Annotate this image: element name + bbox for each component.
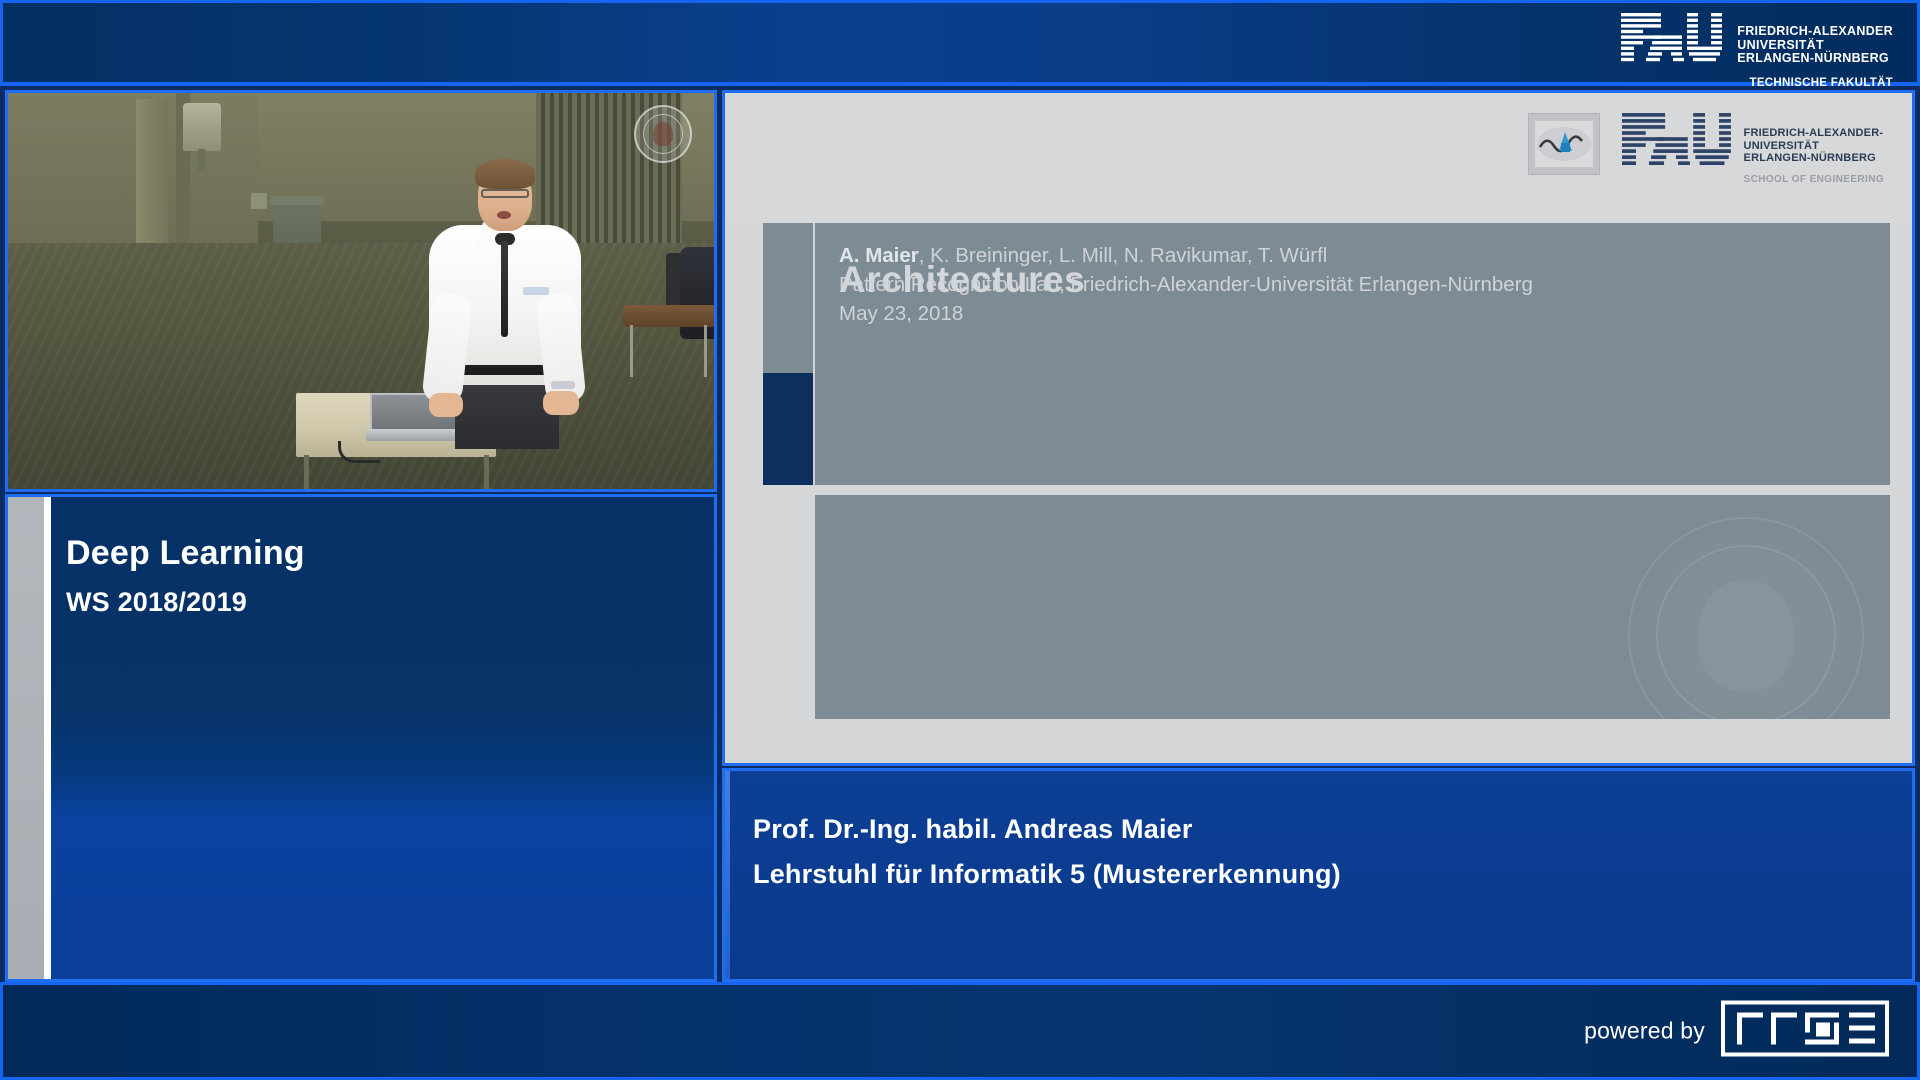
wall-pillar [136, 99, 168, 251]
slide-header: FRIEDRICH-ALEXANDER- UNIVERSITÄT ERLANGE… [725, 93, 1912, 223]
slide-author-lines: A. Maier, K. Breininger, L. Mill, N. Rav… [839, 241, 1533, 328]
presenter-glasses [481, 189, 529, 198]
slide-org-name: FRIEDRICH-ALEXANDER- UNIVERSITÄT ERLANGE… [1744, 113, 1884, 165]
faculty-label: TECHNISCHE FAKULTÄT [1737, 77, 1893, 89]
org-line-3: ERLANGEN-NÜRNBERG [1737, 52, 1893, 66]
wall-dispenser [183, 103, 221, 151]
lecture-video-panel[interactable] [5, 90, 717, 492]
org-line-2: UNIVERSITÄT [1737, 39, 1893, 53]
left-white-bar [44, 497, 51, 979]
presenter [423, 163, 583, 448]
powered-by-label: powered by [1584, 1018, 1705, 1045]
affiliation-line: Pattern Recognition Lab, Friedrich-Alexa… [839, 270, 1533, 299]
presenter-hand-right [543, 391, 579, 415]
slide-author-band [763, 373, 1890, 485]
university-seal-icon [634, 105, 692, 163]
slide-canvas: FRIEDRICH-ALEXANDER- UNIVERSITÄT ERLANGE… [725, 93, 1912, 763]
slide-org-line-2: UNIVERSITÄT [1744, 140, 1884, 153]
fau-logo-icon [1622, 113, 1732, 167]
university-seal-watermark-icon [1628, 517, 1864, 719]
lecture-recording-page: FRIEDRICH-ALEXANDER UNIVERSITÄT ERLANGEN… [0, 0, 1920, 1080]
course-title: Deep Learning [66, 531, 698, 575]
course-term: WS 2018/2019 [66, 587, 698, 618]
presenter-hair [475, 159, 535, 189]
co-authors: , K. Breininger, L. Mill, N. Ravikumar, … [919, 244, 1328, 267]
slide-content-panel [815, 495, 1890, 719]
presenter-watch [551, 381, 575, 389]
presenter-hand-left [429, 393, 463, 417]
shirt-pocket [523, 287, 549, 295]
power-cable [338, 441, 380, 463]
presentation-slide-panel[interactable]: FRIEDRICH-ALEXANDER- UNIVERSITÄT ERLANGE… [722, 90, 1915, 766]
school-label: SCHOOL OF ENGINEERING [1744, 174, 1884, 185]
slide-body: Architectures A. Maier, K. Breininger, L… [763, 223, 1890, 719]
prl-logo-inner [1535, 121, 1593, 167]
org-line-1: FRIEDRICH-ALEXANDER [1737, 25, 1893, 39]
course-title-panel: Deep Learning WS 2018/2019 [5, 494, 717, 982]
prl-waveform-icon [1535, 121, 1593, 167]
first-author: A. Maier [839, 244, 919, 267]
course-text-group: Deep Learning WS 2018/2019 [66, 531, 698, 618]
authors-line: A. Maier, K. Breininger, L. Mill, N. Rav… [839, 241, 1533, 270]
slide-org-line-1: FRIEDRICH-ALEXANDER- [1744, 127, 1884, 140]
slide-author-accent-block [763, 373, 815, 485]
slide-title-left-column [763, 223, 815, 373]
presenter-mouth [497, 211, 511, 219]
pattern-recognition-lab-logo-icon [1528, 113, 1600, 175]
rrze-logo-icon[interactable] [1721, 1001, 1889, 1062]
speaker-info-panel: Prof. Dr.-Ing. habil. Andreas Maier Lehr… [722, 768, 1915, 982]
chair [618, 261, 717, 381]
slide-org-line-3: ERLANGEN-NÜRNBERG [1744, 152, 1884, 165]
microphone-cable [501, 241, 508, 337]
fau-slide-branding: FRIEDRICH-ALEXANDER- UNIVERSITÄT ERLANGE… [1622, 113, 1884, 185]
speaker-text-group: Prof. Dr.-Ing. habil. Andreas Maier Lehr… [753, 807, 1341, 897]
wall-socket [251, 193, 267, 209]
top-header-bar: FRIEDRICH-ALEXANDER UNIVERSITÄT ERLANGEN… [0, 0, 1920, 86]
fau-logo-icon [1621, 13, 1723, 63]
fau-branding-header: FRIEDRICH-ALEXANDER UNIVERSITÄT ERLANGEN… [1621, 13, 1893, 89]
left-gray-bar [8, 497, 44, 979]
video-frame [8, 93, 714, 489]
speaker-chair: Lehrstuhl für Informatik 5 (Mustererkenn… [753, 852, 1341, 897]
slide-date: May 23, 2018 [839, 299, 1533, 328]
fau-org-name: FRIEDRICH-ALEXANDER UNIVERSITÄT ERLANGEN… [1737, 13, 1893, 66]
speaker-accent-bar [725, 771, 730, 979]
footer-bar: powered by [0, 982, 1920, 1080]
speaker-name: Prof. Dr.-Ing. habil. Andreas Maier [753, 807, 1341, 852]
slide-logo-group: FRIEDRICH-ALEXANDER- UNIVERSITÄT ERLANGE… [1528, 113, 1884, 185]
chair-seat [623, 305, 715, 327]
